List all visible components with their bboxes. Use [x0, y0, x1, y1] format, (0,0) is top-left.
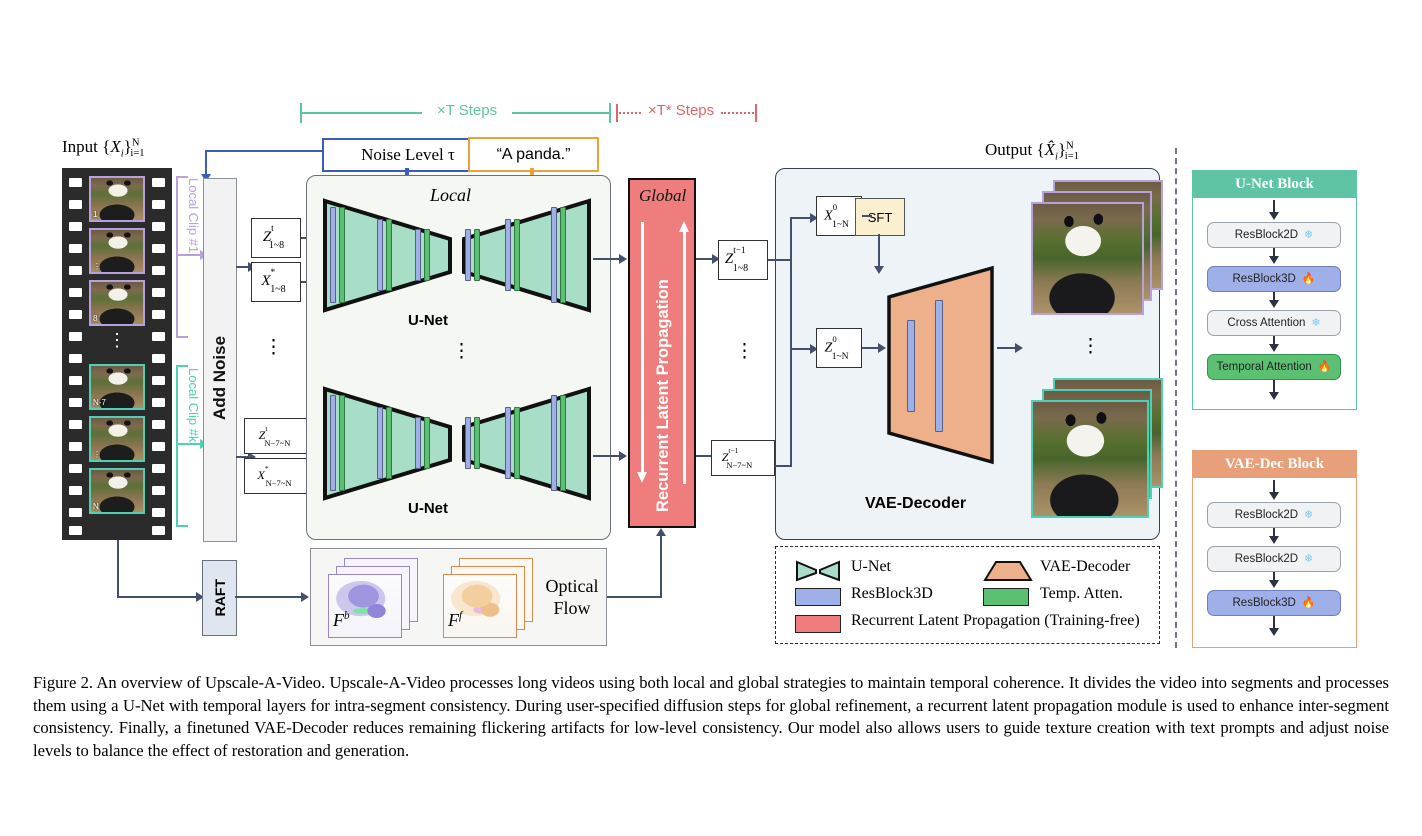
optical-flow-caption: Optical Flow [540, 568, 604, 628]
latent-out-ellipsis: ⋮ [735, 340, 754, 363]
input-frame: N [89, 468, 145, 514]
global-steps-dots-left [619, 112, 641, 114]
global-module-label: Recurrent Latent Propagation [654, 222, 673, 512]
unet-layer-cross-attention: Cross Attention ❄ [1207, 310, 1341, 336]
unet-layer-resblock2d: ResBlock2D ❄ [1207, 222, 1341, 248]
latent-z-box-1: Zt1~8 [251, 218, 301, 258]
legend-label-resblock3d: ResBlock3D [851, 585, 933, 603]
local-clip-k-label: Local Clip #k [186, 368, 201, 488]
output-title-text: Output [985, 140, 1032, 159]
local-module-ellipsis: ⋮ [452, 340, 471, 363]
frame-index: 8 [93, 314, 97, 323]
latent-z-label-k: ZtN−7~N [259, 427, 294, 444]
unet-label-2: U-Net [408, 500, 448, 517]
latent-ellipsis-input: ⋮ [264, 336, 283, 359]
add-noise-label: Add Noise [210, 300, 230, 420]
frame-index: ⋮ [93, 262, 101, 271]
latent-out-z-box-1: Zt−11~8 [718, 240, 768, 280]
vae-layer-label: ResBlock2D [1235, 553, 1298, 565]
vae-layer-resblock2d-2: ResBlock2D ❄ [1207, 546, 1341, 572]
local-clip-k-arrow-line [178, 443, 202, 445]
legend-label-rlp: Recurrent Latent Propagation (Training-f… [851, 612, 1140, 630]
latent-x-box-k: X*N−7~N [244, 458, 308, 494]
unet-layer-label: Cross Attention [1227, 317, 1305, 329]
input-frame: ⋮ [89, 416, 145, 462]
unet-label-1: U-Net [408, 312, 448, 329]
output-title-set: {X̂i}Ni=1 [1036, 140, 1078, 159]
decoder-z0-box: Z01~N [816, 328, 862, 368]
decoder-z0-label: Z01~N [825, 338, 854, 358]
unet-layer-label: Temporal Attention [1217, 361, 1312, 373]
legend-label-temp-atten: Temp. Atten. [1040, 585, 1123, 603]
vae-layer-label: ResBlock3D [1233, 597, 1296, 609]
latent-z-label-1: Zt1~8 [263, 228, 289, 248]
flow-backward-stack: Fb [328, 558, 423, 640]
latent-x-box-1: X*1~8 [251, 262, 301, 302]
frame-index: ⋮ [93, 450, 101, 459]
input-frame: ⋮ [89, 228, 145, 274]
section-divider [1175, 148, 1177, 648]
input-title: Input {Xi}Ni=1 [62, 137, 212, 159]
raft-block: RAFT [202, 560, 237, 636]
output-stack-purple [1031, 180, 1165, 315]
vae-layer-resblock2d-1: ResBlock2D ❄ [1207, 502, 1341, 528]
vae-dec-block-card-title: VAE-Dec Block [1225, 456, 1324, 473]
unet-layer-temporal-attention: Temporal Attention 🔥 [1207, 354, 1341, 380]
snowflake-icon: ❄ [1311, 318, 1320, 329]
latent-out-z-label-k: Zt−1N−7~N [722, 449, 765, 466]
local-steps-line-a [302, 112, 422, 114]
film-strip-ellipsis: ⋮ [89, 331, 145, 349]
vae-layer-label: ResBlock2D [1235, 509, 1298, 521]
legend-swatch-unet [795, 560, 841, 582]
flow-forward-label: Ff [448, 610, 462, 631]
text-prompt-label: “A panda.” [497, 146, 571, 164]
output-title: Output {X̂i}Ni=1 [985, 140, 1079, 162]
global-down-arrow-shaft [641, 222, 644, 474]
vae-decoder-label: VAE-Decoder [865, 495, 966, 513]
decoder-x0-label: X01~N [824, 206, 854, 226]
latent-z-box-k: ZtN−7~N [244, 418, 308, 454]
global-down-arrow-head [637, 472, 647, 483]
frame-index: 1 [93, 210, 97, 219]
sft-label: SFT [868, 210, 893, 225]
vae-dec-block-card-header: VAE-Dec Block [1192, 450, 1357, 478]
global-up-arrow-shaft [683, 232, 686, 484]
noise-level-label: Noise Level τ [361, 145, 455, 165]
input-title-set: {Xi}Ni=1 [102, 137, 144, 156]
steps-bar: ×T Steps ×T* Steps [300, 100, 760, 128]
figure-caption-text: An overview of Upscale-A-Video. Upscale-… [33, 673, 1389, 760]
input-title-text: Input [62, 137, 98, 156]
unet-block-card-title: U-Net Block [1235, 176, 1314, 193]
input-frame: 1 [89, 176, 145, 222]
legend-swatch-vae-decoder [983, 560, 1033, 582]
raft-label: RAFT [212, 579, 228, 616]
latent-out-z-label-1: Zt−11~8 [725, 250, 761, 270]
latent-x-label-k: X*N−7~N [258, 467, 295, 484]
frame-index: N-7 [93, 398, 106, 407]
snowflake-icon: ❄ [1304, 230, 1313, 241]
decoder-bus-line [790, 259, 792, 466]
global-steps-dots-right [721, 112, 754, 114]
unet-layer-label: ResBlock2D [1235, 229, 1298, 241]
unet-block-card-header: U-Net Block [1192, 170, 1357, 198]
fire-icon: 🔥 [1318, 362, 1332, 373]
figure-caption: Figure 2. An overview of Upscale-A-Video… [33, 672, 1389, 762]
local-steps-line-b [512, 112, 610, 114]
output-stack-teal [1031, 378, 1165, 523]
global-steps-bracket-right [755, 104, 757, 122]
local-clip-1-label: Local Clip #1 [186, 178, 201, 298]
unet-layer-resblock3d: ResBlock3D 🔥 [1207, 266, 1341, 292]
optical-flow-caption-line2: Flow [553, 598, 590, 620]
vae-layer-resblock3d: ResBlock3D 🔥 [1207, 590, 1341, 616]
snowflake-icon: ❄ [1304, 510, 1313, 521]
legend-swatch-resblock3d [795, 588, 841, 606]
legend-swatch-rlp [795, 615, 841, 633]
fire-icon: 🔥 [1302, 274, 1316, 285]
global-module-title: Global [639, 186, 686, 206]
latent-out-z-box-k: Zt−1N−7~N [711, 440, 775, 476]
legend-label-unet: U-Net [851, 558, 891, 576]
unet-layer-label: ResBlock3D [1233, 273, 1296, 285]
legend-label-vae-decoder: VAE-Decoder [1040, 558, 1130, 576]
snowflake-icon: ❄ [1304, 554, 1313, 565]
output-stack-ellipsis: ⋮ [1081, 335, 1100, 358]
latent-x-label-1: X*1~8 [261, 272, 290, 292]
flow-backward-label: Fb [333, 610, 350, 631]
flow-forward-stack: Ff [443, 558, 538, 640]
noise-feedback-line-h [205, 150, 323, 152]
input-frame: N-7 [89, 364, 145, 410]
figure-caption-label: Figure 2. [33, 673, 93, 692]
global-steps-label: ×T* Steps [642, 102, 720, 119]
input-frame: 8 [89, 280, 145, 326]
sft-box: SFT [855, 198, 905, 236]
fire-icon: 🔥 [1302, 598, 1316, 609]
local-clip-1-arrow-line [178, 254, 202, 256]
global-up-arrow-head [679, 221, 689, 232]
local-steps-bracket-right [609, 103, 611, 123]
optical-flow-caption-line1: Optical [546, 576, 599, 598]
text-prompt-box[interactable]: “A panda.” [468, 137, 599, 172]
legend-swatch-temp-atten [983, 588, 1029, 606]
local-steps-label: ×T Steps [424, 102, 510, 119]
frame-index: N [93, 502, 99, 511]
input-film-strip: 1 ⋮ 8 ⋮ N-7 ⋮ N [62, 168, 172, 540]
